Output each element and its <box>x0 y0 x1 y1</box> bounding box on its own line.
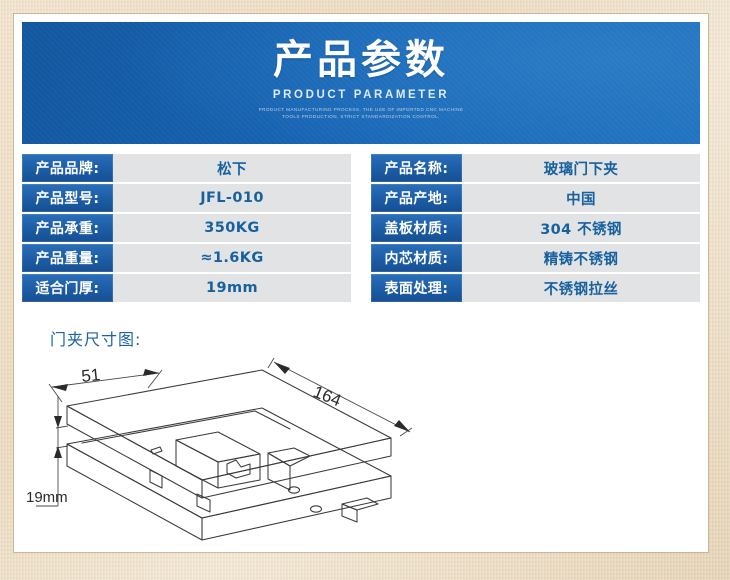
spec-value: 精铸不锈钢 <box>462 244 700 272</box>
spec-row: 产品名称: 玻璃门下夹 <box>371 154 700 182</box>
spec-table-right: 产品名称: 玻璃门下夹 产品产地: 中国 盖板材质: 304 不锈钢 内芯材质:… <box>371 154 700 302</box>
spec-value: 松下 <box>113 154 351 182</box>
spec-row: 内芯材质: 精铸不锈钢 <box>371 244 700 272</box>
mechanism-left-top <box>176 432 260 462</box>
banner-title: 产品参数 <box>22 39 700 82</box>
spec-row: 盖板材质: 304 不锈钢 <box>371 214 700 242</box>
spec-tables: 产品品牌: 松下 产品型号: JFL-010 产品承重: 350KG 产品重量:… <box>22 154 700 302</box>
drawing-heading: 门夹尺寸图: <box>50 326 141 350</box>
spec-label: 产品产地: <box>371 184 462 212</box>
body-front-face <box>67 444 202 540</box>
dim51-line <box>52 373 159 387</box>
spec-label: 产品承重: <box>22 214 113 242</box>
spec-value: ≈1.6KG <box>113 244 351 272</box>
mechanism-window <box>218 454 260 488</box>
clip-small-upper <box>151 447 162 454</box>
dim19-arrow-bottom <box>54 446 62 458</box>
spec-label: 盖板材质: <box>371 214 462 242</box>
spec-label: 产品品牌: <box>22 154 113 182</box>
dim164-arrow-start <box>274 362 290 374</box>
door-clamp-isometric-drawing: 51 164 19mm <box>22 354 700 544</box>
spec-label: 产品重量: <box>22 244 113 272</box>
spec-label: 适合门厚: <box>22 274 113 302</box>
mechanism-left-block <box>176 440 218 488</box>
spec-row: 产品重量: ≈1.6KG <box>22 244 351 272</box>
dim19-arrow-top <box>54 416 62 428</box>
banner-fineprint-line2: TOOLS PRODUCTION, STRICT STANDARDIZATION… <box>22 113 700 120</box>
dim-label-length: 164 <box>311 382 344 410</box>
dim164-arrow-end <box>394 420 410 432</box>
banner-subtitle: PRODUCT PARAMETER <box>22 89 700 101</box>
spec-row: 产品型号: JFL-010 <box>22 184 351 212</box>
spec-value: 304 不锈钢 <box>462 214 700 242</box>
product-parameter-page: 产品参数 PRODUCT PARAMETER PRODUCT MANUFACTU… <box>0 0 730 580</box>
cover-front-face <box>67 406 202 498</box>
spec-value: 中国 <box>462 184 700 212</box>
frame-mat: 产品参数 PRODUCT PARAMETER PRODUCT MANUFACTU… <box>14 14 708 552</box>
spec-label: 内芯材质: <box>371 244 462 272</box>
spec-value: 19mm <box>113 274 351 302</box>
mechanism-cam <box>227 460 250 478</box>
banner-fineprint-line1: PRODUCT MANUFACTURING PROCESS, THE USE O… <box>22 106 700 113</box>
spec-label: 表面处理: <box>371 274 462 302</box>
cover-right-face <box>202 438 391 498</box>
dim-label-height: 19mm <box>26 489 68 506</box>
spec-value: 玻璃门下夹 <box>462 154 700 182</box>
spec-row: 表面处理: 不锈钢拉丝 <box>371 274 700 302</box>
content-sheet: 产品参数 PRODUCT PARAMETER PRODUCT MANUFACTU… <box>14 14 708 552</box>
dim51-arrow-right <box>143 369 159 376</box>
spec-value: 不锈钢拉丝 <box>462 274 700 302</box>
spec-table-left: 产品品牌: 松下 产品型号: JFL-010 产品承重: 350KG 产品重量:… <box>22 154 351 302</box>
spec-row: 产品品牌: 松下 <box>22 154 351 182</box>
clip-left-lower <box>150 470 162 488</box>
spec-row: 产品承重: 350KG <box>22 214 351 242</box>
spec-value: 350KG <box>113 214 351 242</box>
dim-label-width: 51 <box>80 365 101 386</box>
spec-value: JFL-010 <box>113 184 351 212</box>
dim164-ext-start <box>268 358 274 368</box>
mechanism-right-block <box>268 453 290 490</box>
spec-row: 适合门厚: 19mm <box>22 274 351 302</box>
dim51-arrow-left <box>52 384 68 391</box>
banner-fineprint: PRODUCT MANUFACTURING PROCESS, THE USE O… <box>22 106 700 120</box>
spec-label: 产品型号: <box>22 184 113 212</box>
spec-label: 产品名称: <box>371 154 462 182</box>
spec-row: 产品产地: 中国 <box>371 184 700 212</box>
dimension-drawing: 51 164 19mm <box>22 354 700 544</box>
product-parameter-banner: 产品参数 PRODUCT PARAMETER PRODUCT MANUFACTU… <box>22 22 700 144</box>
end-notch-side <box>342 504 357 522</box>
screw-hole-lower <box>311 506 322 512</box>
